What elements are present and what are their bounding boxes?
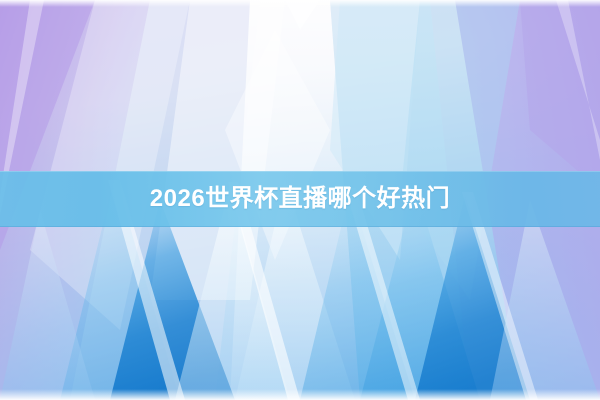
banner-image: 2026世界杯直播哪个好热门 (0, 0, 600, 400)
page-title: 2026世界杯直播哪个好热门 (150, 187, 450, 211)
title-band-bottom-edge (0, 226, 600, 227)
title-band: 2026世界杯直播哪个好热门 (0, 171, 600, 227)
title-band-top-edge (0, 171, 600, 172)
